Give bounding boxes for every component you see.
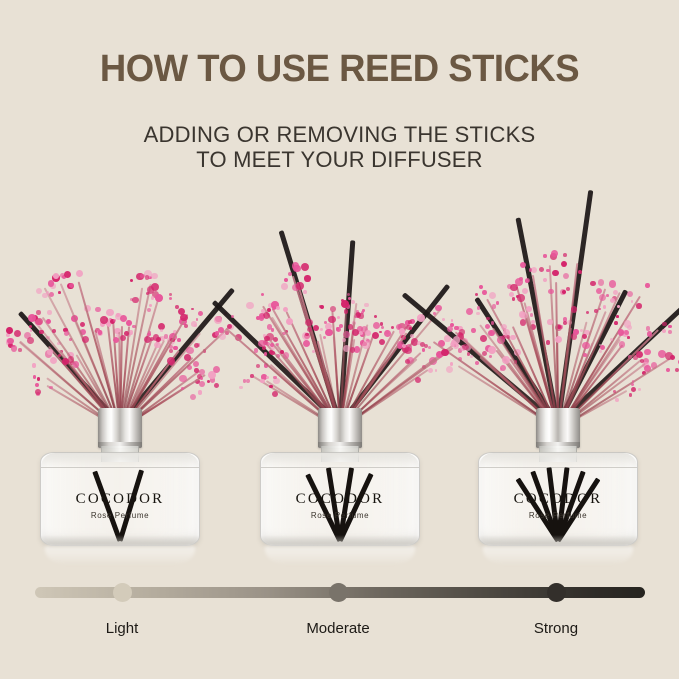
flower-blossom [305,333,308,336]
flower-blossom [246,379,250,383]
flower-blossom [519,311,526,318]
slider-knob-moderate[interactable] [329,583,348,602]
flower-blossom [599,294,606,301]
flower-blossom [435,305,442,312]
flower-blossom [543,278,547,282]
flower-blossom [313,325,319,331]
flower-blossom [46,319,51,324]
floral-spray-strong [458,214,658,429]
flower-blossom [186,347,193,354]
flower-blossom [100,316,108,324]
flower-blossom [636,303,641,308]
flower-blossom [231,315,234,318]
flower-blossom [33,375,36,378]
flower-blossom [599,350,602,353]
flower-blossom [502,356,510,364]
flower-blossom [480,335,487,342]
flower-blossom [18,348,22,352]
flower-blossom [571,306,578,313]
flower-blossom [58,291,61,294]
flower-blossom [250,374,254,378]
flower-blossom [627,291,633,297]
flower-blossom [258,340,265,347]
flower-blossom [405,359,410,364]
flower-blossom [64,271,71,278]
flower-blossom [280,350,284,354]
flower-blossom [296,282,304,290]
flower-blossom [441,349,448,356]
flower-blossom [446,366,453,373]
flower-blossom [358,313,363,318]
flower-blossom [627,336,630,339]
variant-label: Rose Perfume [41,511,199,520]
flower-blossom [254,348,258,352]
flower-blossom [259,315,264,320]
flower-blossom [181,387,184,390]
flower-blossom [116,334,120,338]
flower-blossom [107,323,111,327]
brand-label: COCODOR [41,491,199,508]
flower-blossom [276,306,280,310]
flower-blossom [35,383,39,387]
flower-blossom [670,355,675,360]
flower-blossom [337,316,341,320]
flower-blossom [563,253,567,257]
flower-blossom [520,262,526,268]
flower-blossom [433,312,436,315]
flower-blossom [482,290,487,295]
bottle-jar: COCODOR Rose Perfume [260,452,420,546]
flower-blossom [391,326,394,329]
flower-blossom [98,330,102,334]
flower-blossom [219,333,226,340]
flower-blossom [583,353,587,357]
flower-blossom [379,339,385,345]
flower-blossom [304,275,310,281]
bottle-reflection [265,546,415,564]
flower-blossom [339,324,343,328]
flower-blossom [485,324,490,329]
flower-blossom [496,301,500,305]
flower-blossom [129,330,133,334]
jar-top-rim [41,453,199,468]
flower-blossom [512,297,516,301]
flower-blossom [325,329,333,337]
flower-blossom [29,325,32,328]
flower-blossom [49,386,52,389]
flower-blossom [476,312,480,316]
flower-blossom [573,329,579,335]
slider-label-strong: Strong [496,620,616,637]
flower-blossom [668,330,672,334]
flower-blossom [417,314,425,322]
flower-blossom [380,322,383,325]
flower-blossom [365,330,371,336]
flower-blossom [256,364,260,368]
flower-blossom [35,318,42,325]
flower-blossom [177,338,181,342]
flower-blossom [286,318,293,325]
flower-blossom [194,343,199,348]
flower-blossom [319,305,322,308]
flower-blossom [645,283,649,287]
flower-blossom [364,303,368,307]
page-title: HOW TO USE REED STICKS [14,48,666,90]
flower-blossom [342,338,346,342]
flower-blossom [351,300,355,304]
flower-blossom [266,376,269,379]
flower-blossom [522,288,528,294]
flower-blossom [459,329,464,334]
brand-label: COCODOR [261,491,419,508]
flower-blossom [193,361,199,367]
flower-blossom [435,369,438,372]
flower-blossom [35,389,41,395]
flower-blossom [578,270,582,274]
flower-blossom [266,342,270,346]
flower-blossom [283,307,288,312]
flower-blossom [191,321,197,327]
flower-blossom [563,321,567,325]
flower-blossom [132,297,139,304]
flower-blossom [539,267,544,272]
bottle-jar: COCODOR Rose Perfume [478,452,638,546]
flower-blossom [47,349,53,355]
flower-blossom [475,293,478,296]
flower-blossom [675,368,679,372]
flower-blossom [586,311,589,314]
flower-blossom [362,309,365,312]
flower-blossom [198,390,203,395]
subtitle-line-2: TO MEET YOUR DIFFUSER [0,147,679,172]
flower-blossom [341,300,349,308]
flower-blossom [546,340,551,345]
flower-blossom [590,281,596,287]
flower-blossom [42,293,48,299]
flower-blossom [352,329,359,336]
flower-blossom [547,319,553,325]
flower-blossom [615,398,619,402]
flower-blossom [52,329,56,333]
flower-blossom [566,287,570,291]
flower-blossom [551,250,558,257]
flower-blossom [384,330,391,337]
flower-blossom [344,309,348,313]
flower-blossom [328,316,335,323]
flower-blossom [477,306,481,310]
flower-blossom [149,304,152,307]
flower-blossom [530,313,534,317]
product-row: COCODOR Rose Perfume COCODOR Rose Perfum… [0,196,679,564]
flower-blossom [39,330,43,334]
flower-blossom [301,263,309,271]
flower-blossom [261,293,264,296]
slider-label-light: Light [62,620,182,637]
flower-blossom [269,350,273,354]
flower-blossom [640,359,644,363]
flower-blossom [30,329,33,332]
jar-top-rim [479,453,637,468]
flower-blossom [381,326,384,329]
flower-blossom [199,369,205,375]
flower-blossom [466,308,473,315]
flower-blossom [169,349,173,353]
flower-blossom [271,328,274,331]
flower-blossom [130,279,133,282]
flower-blossom [7,338,14,345]
slider-label-row: Light Moderate Strong [0,620,679,644]
flower-blossom [644,349,651,356]
flower-blossom [617,305,620,308]
flower-blossom [169,293,172,296]
flower-blossom [281,283,287,289]
flower-blossom [180,314,188,322]
flower-blossom [323,336,326,339]
flower-blossom [11,345,17,351]
flower-blossom [519,277,523,281]
flower-blossom [555,336,563,344]
flower-blossom [239,386,242,389]
flower-blossom [36,288,42,294]
flower-blossom [151,296,155,300]
slider-label-moderate: Moderate [278,620,398,637]
flower-blossom [646,326,650,330]
flower-blossom [543,254,546,257]
flower-blossom [73,361,79,367]
flower-blossom [631,387,636,392]
flower-blossom [160,329,163,332]
flower-blossom [372,332,379,339]
flower-blossom [48,280,54,286]
flower-blossom [526,306,533,313]
flower-blossom [594,309,598,313]
flower-blossom [213,366,220,373]
flower-blossom [272,391,278,397]
flower-blossom [320,328,323,331]
flower-blossom [147,308,151,312]
flower-blossom [598,279,604,285]
flower-blossom [500,365,506,371]
flower-blossom [175,305,179,309]
flower-blossom [603,305,607,309]
brand-label: COCODOR [479,491,637,508]
flower-blossom [214,383,219,388]
flower-blossom [616,315,619,318]
flower-blossom [28,314,36,322]
product-diffuser-strong[interactable]: COCODOR Rose Perfume [458,196,658,564]
jar-base [479,535,637,545]
flower-blossom [633,355,637,359]
variant-label: Rose Perfume [261,511,419,520]
flower-blossom [546,269,550,273]
flower-blossom [264,352,268,356]
bottle-collar-icon [536,408,580,448]
flower-blossom [529,268,532,271]
flower-blossom [37,377,40,380]
flower-blossom [276,343,279,346]
flower-blossom [552,270,558,276]
bottle-collar-icon [98,408,142,448]
product-diffuser-moderate[interactable]: COCODOR Rose Perfume [240,196,440,564]
flower-blossom [491,321,495,325]
flower-blossom [80,322,85,327]
flower-blossom [470,355,473,358]
flower-blossom [638,388,641,391]
flower-blossom [451,319,454,322]
flower-blossom [260,379,265,384]
flower-blossom [422,348,425,351]
flower-blossom [169,297,172,300]
flower-blossom [184,354,191,361]
flower-blossom [246,302,254,310]
flower-blossom [49,292,54,297]
flower-blossom [76,270,83,277]
flower-blossom [548,289,553,294]
floral-spray-light [20,214,220,429]
flower-blossom [471,328,476,333]
flower-blossom [347,293,351,297]
flower-blossom [200,377,203,380]
flower-blossom [199,381,205,387]
flower-blossom [267,308,272,313]
flower-blossom [492,304,497,309]
flower-blossom [561,261,567,267]
flower-blossom [379,331,382,334]
flower-blossom [145,275,150,280]
flower-blossom [14,330,21,337]
flower-blossom [450,362,454,366]
flower-blossom [453,336,461,344]
bottle-light: COCODOR Rose Perfume [20,404,220,564]
flower-blossom [147,333,151,337]
flower-blossom [191,308,194,311]
infographic-canvas: HOW TO USE REED STICKS ADDING OR REMOVIN… [0,0,679,679]
jar-top-rim [261,453,419,468]
floral-spray-moderate [240,214,440,429]
bottle-moderate: COCODOR Rose Perfume [240,404,440,564]
flower-blossom [563,273,570,280]
flower-blossom [82,336,89,343]
flower-blossom [113,319,116,322]
slider-knob-strong[interactable] [547,583,566,602]
flower-blossom [647,331,652,336]
flower-blossom [36,310,41,315]
variant-label: Rose Perfume [479,511,637,520]
flower-blossom [196,318,199,321]
flower-blossom [606,294,609,297]
slider-knob-light[interactable] [113,583,132,602]
flower-blossom [562,290,566,294]
flower-blossom [631,383,634,386]
flower-blossom [614,321,618,325]
flower-blossom [489,292,496,299]
flower-blossom [53,273,59,279]
flower-blossom [475,361,479,365]
jar-base [261,535,419,545]
flower-blossom [198,311,203,316]
subtitle-line-1: ADDING OR REMOVING THE STICKS [0,122,679,147]
flower-blossom [293,265,300,272]
jar-base [41,535,199,545]
flower-blossom [284,278,288,282]
flower-blossom [486,317,490,321]
flower-blossom [348,297,351,300]
product-diffuser-light[interactable]: COCODOR Rose Perfume [20,196,220,564]
flower-blossom [582,342,589,349]
flower-blossom [510,335,515,340]
flower-blossom [619,341,625,347]
flower-blossom [428,368,433,373]
flower-blossom [629,393,633,397]
flower-blossom [184,324,188,328]
flower-blossom [525,279,530,284]
flower-blossom [270,343,274,347]
flower-blossom [151,273,158,280]
flower-blossom [404,347,412,355]
flower-blossom [194,368,199,373]
flower-blossom [408,320,412,324]
flower-blossom [95,307,101,313]
flower-blossom [489,355,492,358]
intensity-slider[interactable] [35,583,645,601]
bottle-strong: COCODOR Rose Perfume [458,404,658,564]
flower-blossom [273,376,277,380]
flower-blossom [454,326,459,331]
bottle-reflection [483,546,633,564]
flower-blossom [415,377,421,383]
flower-blossom [50,357,57,364]
bottle-jar: COCODOR Rose Perfume [40,452,200,546]
page-subtitle: ADDING OR REMOVING THE STICKS TO MEET YO… [0,122,679,172]
flower-blossom [305,319,312,326]
flower-blossom [596,288,602,294]
flower-blossom [190,394,196,400]
flower-blossom [330,306,336,312]
flower-blossom [47,310,52,315]
flower-blossom [666,368,670,372]
flower-blossom [32,363,36,367]
flower-blossom [303,340,310,347]
flower-blossom [479,285,483,289]
flower-blossom [442,318,445,321]
flower-blossom [631,300,634,303]
flower-blossom [662,329,666,333]
flower-blossom [374,315,377,318]
bottle-reflection [45,546,195,564]
flower-blossom [668,325,672,329]
bottle-collar-icon [318,408,362,448]
flower-blossom [406,325,411,330]
flower-blossom [6,327,13,334]
flower-blossom [510,284,518,292]
flower-blossom [27,337,34,344]
flower-blossom [106,309,114,317]
flower-blossom [609,280,616,287]
flower-blossom [214,316,222,324]
flower-blossom [155,294,163,302]
flower-blossom [613,390,616,393]
flower-blossom [303,290,307,294]
